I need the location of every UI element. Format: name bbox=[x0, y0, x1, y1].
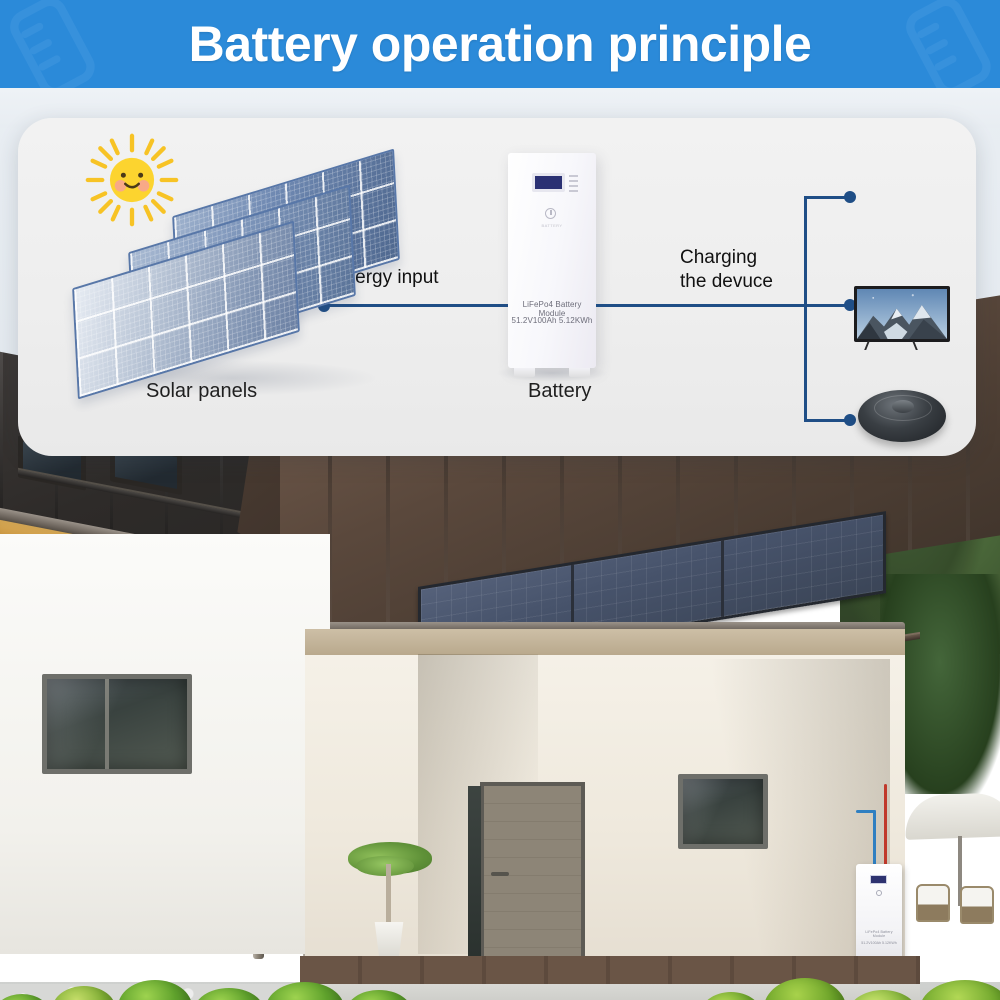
shrub-row-right bbox=[700, 978, 1000, 1000]
door-handle bbox=[491, 872, 509, 876]
front-door bbox=[480, 782, 585, 960]
page-header-banner: Battery operation principle bbox=[0, 0, 1000, 88]
battery-label: Battery bbox=[528, 380, 591, 403]
window-right bbox=[678, 774, 768, 849]
wall-battery-spec: 51.2V100Ah 5.12KWh bbox=[861, 941, 897, 945]
flow-branch-vacuum bbox=[804, 304, 850, 307]
flow-node-dot-washer bbox=[844, 414, 856, 426]
window-left bbox=[42, 674, 192, 774]
patio-chair bbox=[960, 886, 994, 924]
flow-node-dot-tv bbox=[844, 191, 856, 203]
flow-bus-vertical bbox=[804, 196, 807, 422]
battery-cable-positive bbox=[884, 784, 887, 870]
charging-device-label-line1: Charging bbox=[680, 246, 757, 269]
battery-cable-negative bbox=[873, 810, 876, 870]
potted-tree-canopy bbox=[356, 856, 414, 876]
flow-line-input bbox=[324, 304, 508, 307]
diagram-card: Solar panels Electrc energy input BATTER… bbox=[18, 118, 976, 456]
patio-chair bbox=[916, 884, 950, 922]
charging-device-label-line2: the devuce bbox=[680, 270, 773, 293]
television-icon bbox=[854, 286, 950, 342]
potted-tree-trunk bbox=[386, 864, 391, 926]
battery-cabinet-icon: BATTERY LiFePo4 Battery Module 51.2V100A… bbox=[508, 153, 596, 368]
flow-line-output bbox=[596, 304, 806, 307]
solar-panels-label: Solar panels bbox=[146, 380, 257, 403]
screenshot-root: LiFePo4 Battery Module 51.2V100Ah 5.12KW… bbox=[0, 0, 1000, 1000]
power-button-icon bbox=[876, 890, 882, 896]
robot-vacuum-icon bbox=[858, 390, 946, 442]
solar-panel-array-icon bbox=[58, 178, 358, 378]
patio-umbrella bbox=[904, 792, 1000, 840]
lcd-display-icon bbox=[870, 875, 887, 884]
door-sidelight bbox=[468, 786, 481, 956]
battery-brand-text: BATTERY bbox=[508, 223, 596, 228]
shrub-row-left bbox=[0, 980, 412, 1000]
power-button-icon bbox=[545, 208, 556, 219]
lcd-display-icon bbox=[532, 173, 565, 192]
wall-mounted-battery: LiFePo4 Battery Module 51.2V100Ah 5.12KW… bbox=[856, 864, 902, 960]
page-title: Battery operation principle bbox=[0, 0, 1000, 88]
soffit bbox=[305, 629, 905, 655]
wall-battery-model: LiFePo4 Battery Module bbox=[861, 930, 897, 938]
battery-spec-text: 51.2V100Ah 5.12KWh bbox=[508, 316, 596, 325]
tv-screen-landscape bbox=[857, 289, 947, 339]
